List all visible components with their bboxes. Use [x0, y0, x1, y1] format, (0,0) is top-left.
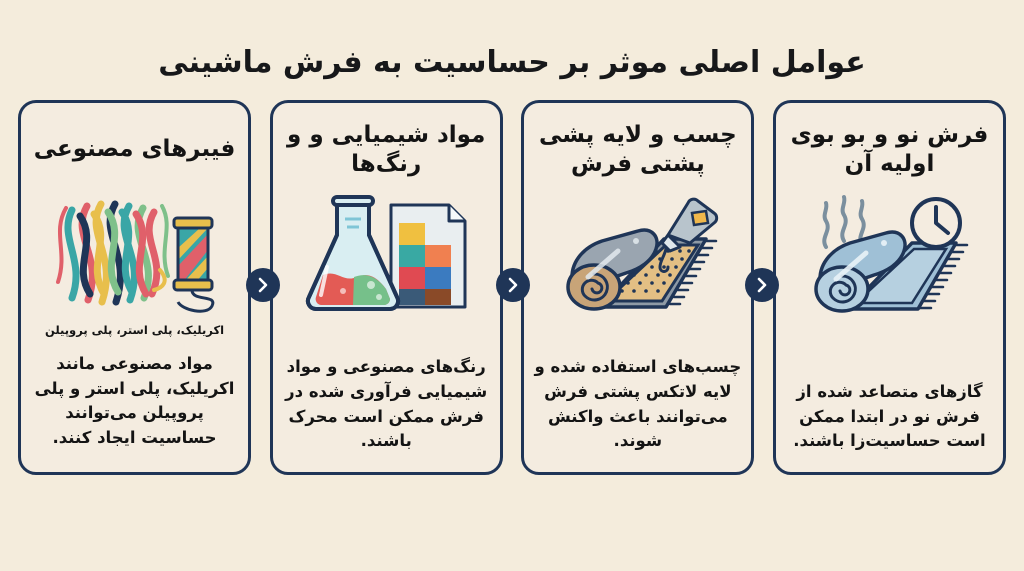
card-body: چسب‌های استفاده شده و لایه لاتکس پشتی فر… — [534, 355, 741, 462]
card-body: رنگ‌های مصنوعی و مواد شیمیایی فرآوری شده… — [283, 355, 490, 462]
card-body: مواد مصنوعی مانند اکریلیک، پلی استر و پل… — [31, 352, 238, 459]
infographic-page: عوامل اصلی موثر بر حساسیت به فرش ماشینی … — [0, 0, 1024, 571]
rolled-carpet-clock-icon — [800, 189, 980, 321]
chevron-right-icon — [504, 276, 522, 294]
yarn-spool-icon — [42, 189, 227, 321]
flask-color-swatch-icon — [299, 189, 474, 321]
card-glue-backing[interactable]: چسب و لایه پشی پشتی فرش — [521, 100, 754, 475]
card-title: چسب و لایه پشی پشتی فرش — [534, 115, 741, 181]
card-title: مواد شیمیایی و و رنگ‌ها — [283, 115, 490, 181]
connector-arrow-2 — [496, 268, 530, 302]
page-title: عوامل اصلی موثر بر حساسیت به فرش ماشینی — [0, 44, 1024, 82]
card-synthetic-fibers[interactable]: فیبرهای مصنوعی — [18, 100, 251, 475]
card-chemicals-dyes[interactable]: مواد شیمیایی و و رنگ‌ها — [270, 100, 503, 475]
chevron-right-icon — [254, 276, 272, 294]
card-body: گازهای متصاعد شده از فرش نو در ابتدا ممک… — [786, 380, 993, 462]
chevron-right-icon — [753, 276, 771, 294]
card-title: فیبرهای مصنوعی — [32, 115, 238, 181]
glue-carpet-backing-icon — [548, 189, 728, 321]
connector-arrow-1 — [246, 268, 280, 302]
card-title: فرش نو و بو بوی اولیه آن — [786, 115, 993, 181]
card-new-carpet-odor[interactable]: فرش نو و بو بوی اولیه آن — [773, 100, 1006, 475]
connector-arrow-3 — [745, 268, 779, 302]
icon-caption: اکریلیک، پلی استر، پلی پروپیلن — [45, 323, 224, 338]
